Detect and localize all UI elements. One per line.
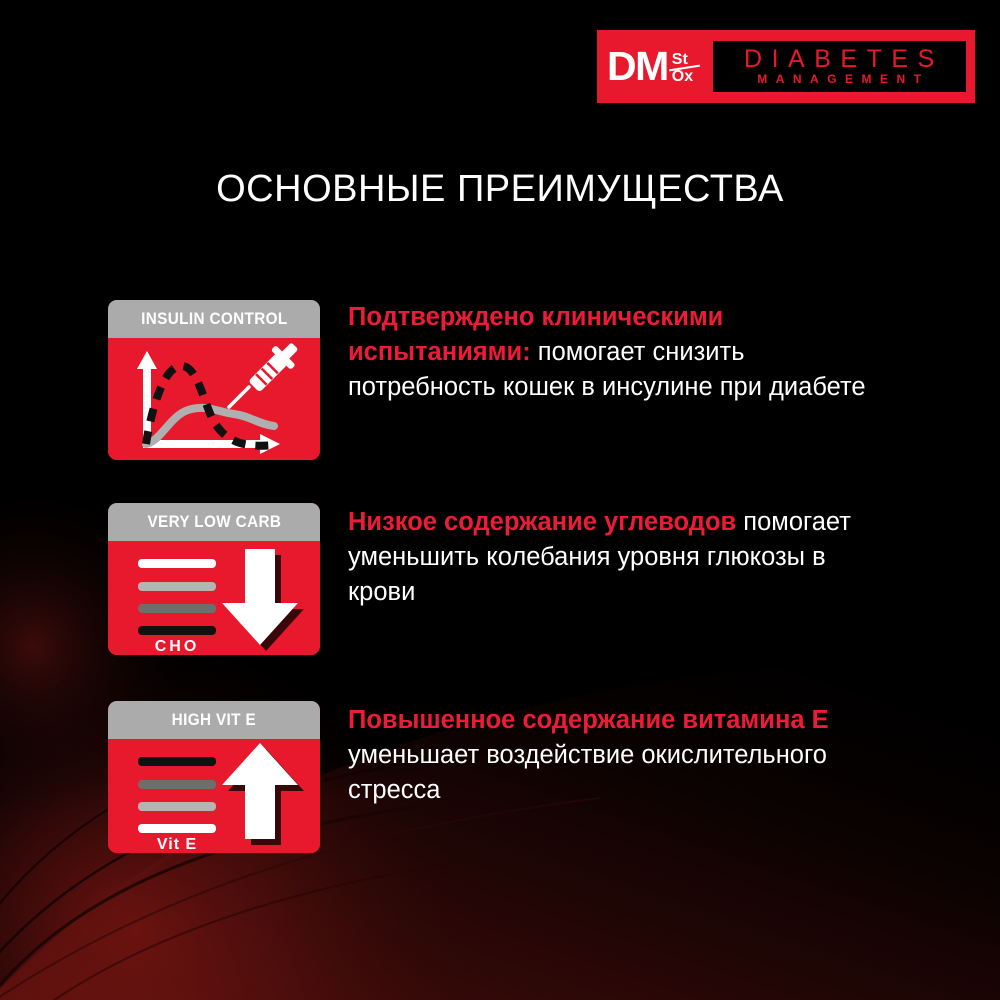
- logo-word-diabetes: DIABETES: [735, 46, 944, 72]
- benefit-highlight: Низкое содержание углеводов: [348, 508, 736, 536]
- card-badge-label: INSULIN CONTROL: [141, 309, 288, 329]
- logo-wordmark-box: DIABETES MANAGEMENT: [710, 38, 969, 95]
- down-arrow-bars-icon: CHO: [108, 541, 320, 655]
- card-badge-label: HIGH VIT E: [172, 710, 256, 730]
- poster-canvas: DM St Ox DIABETES MANAGEMENT ОСНОВНЫЕ ПР…: [0, 0, 1000, 1000]
- benefit-card-insulin-control: INSULIN CONTROL: [108, 300, 320, 460]
- page-title: ОСНОВНЫЕ ПРЕИМУЩЕСТВА: [0, 168, 1000, 211]
- card-illustration: Vit E: [108, 739, 320, 853]
- brand-logo: DM St Ox DIABETES MANAGEMENT: [597, 30, 975, 103]
- card-badge-label: VERY LOW CARB: [147, 512, 281, 532]
- logo-fraction-denominator: Ox: [672, 69, 693, 85]
- logo-dm-mark: DM St Ox: [607, 30, 706, 103]
- up-arrow-bars-icon: Vit E: [108, 739, 320, 853]
- benefit-text-insulin-control: Подтверждено клиническими испытаниями: п…: [348, 300, 898, 405]
- benefit-card-high-vit-e: HIGH VIT E Vit E: [108, 701, 320, 853]
- benefit-highlight: Повышенное содержание витамина E: [348, 706, 829, 734]
- card-illustration: CHO: [108, 541, 320, 655]
- benefit-row-high-vit-e: HIGH VIT E Vit E: [108, 701, 898, 853]
- card-illustration: [108, 338, 320, 460]
- benefit-text-high-vit-e: Повышенное содержание витамина E уменьша…: [348, 703, 898, 808]
- insulin-curve-syringe-icon: [108, 338, 320, 460]
- card-badge-band: HIGH VIT E: [108, 701, 320, 739]
- benefit-body: уменьшает воздействие окислительного стр…: [348, 741, 827, 804]
- svg-text:CHO: CHO: [155, 638, 200, 655]
- logo-stox-fraction: St Ox: [670, 48, 700, 86]
- svg-text:Vit E: Vit E: [157, 836, 197, 853]
- logo-fraction-numerator: St: [672, 52, 688, 68]
- benefit-row-insulin-control: INSULIN CONTROL: [108, 300, 898, 460]
- card-badge-band: VERY LOW CARB: [108, 503, 320, 541]
- benefit-text-very-low-carb: Низкое содержание углеводов помогает уме…: [348, 505, 898, 610]
- logo-word-management: MANAGEMENT: [749, 72, 929, 86]
- benefit-row-very-low-carb: VERY LOW CARB CHO: [108, 503, 898, 655]
- benefit-card-very-low-carb: VERY LOW CARB CHO: [108, 503, 320, 655]
- card-badge-band: INSULIN CONTROL: [108, 300, 320, 338]
- logo-dm-letters: DM: [607, 46, 668, 87]
